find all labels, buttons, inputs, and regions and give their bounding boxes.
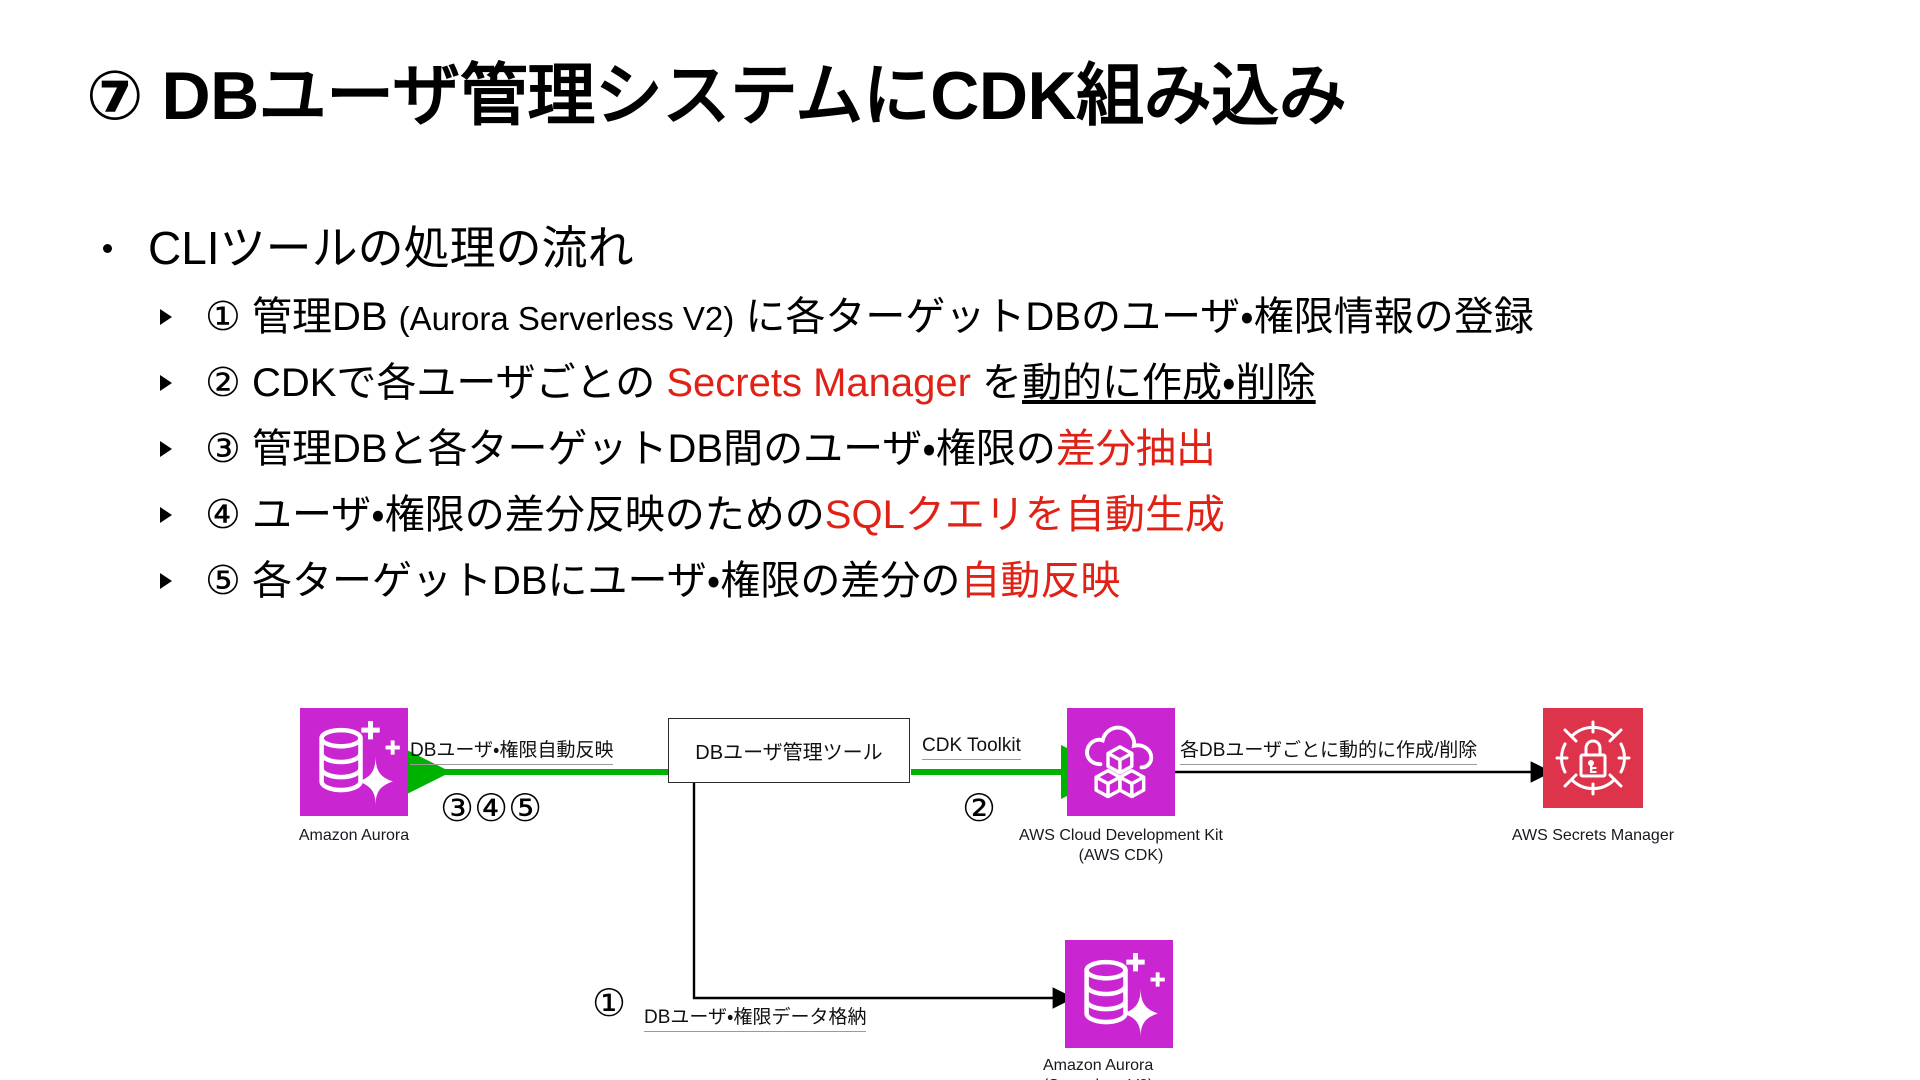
- bullet-item-5: ⑤ 各ターゲットDBにユーザ・権限の差分の自動反映: [0, 561, 1920, 601]
- bullet-item-5-highlight: 自動反映: [960, 559, 1120, 603]
- bullet-item-3-highlight: 差分抽出: [1056, 427, 1216, 471]
- bullet-item-3-pre: 管理DBと各ターゲットDB間のユーザ・権限の: [241, 427, 1056, 471]
- aurora-serverless-caption-line1: Amazon Aurora: [1043, 1057, 1153, 1074]
- edge-label-auto-apply: DBユーザ・権限自動反映: [410, 735, 613, 765]
- aws-cdk-caption-line1: AWS Cloud Development Kit: [1019, 827, 1223, 844]
- bullet-item-2-highlight: Secrets Manager: [666, 361, 971, 405]
- edge-label-create-delete: 各DBユーザごとに動的に作成/削除: [1180, 735, 1477, 765]
- amazon-aurora-serverless-icon: [1065, 940, 1173, 1048]
- bullet-body: CLIツールの処理の流れ ① 管理DB (Aurora Serverless V…: [0, 225, 1920, 627]
- triangle-bullet-icon: [160, 441, 172, 457]
- bullet-item-1-paren: (Aurora Serverless V2): [399, 300, 735, 337]
- step-marker-2: ②: [205, 361, 241, 405]
- step-marker-circle-2: ②: [962, 790, 996, 828]
- db-user-management-tool-box[interactable]: DBユーザ管理ツール: [668, 718, 910, 783]
- amazon-aurora-serverless-caption: Amazon Aurora (Serverless V2): [1043, 1056, 1195, 1080]
- triangle-bullet-icon: [160, 573, 172, 589]
- amazon-aurora-icon: [300, 708, 408, 816]
- step-markers-345: ③④⑤: [440, 790, 542, 828]
- triangle-bullet-icon: [160, 507, 172, 523]
- bullet-item-3: ③ 管理DBと各ターゲットDB間のユーザ・権限の差分抽出: [0, 429, 1920, 469]
- aws-cdk-caption-line2: (AWS CDK): [1079, 847, 1164, 864]
- bullet-item-2: ② CDKで各ユーザごとの Secrets Manager を動的に作成・削除: [0, 363, 1920, 403]
- step-marker-5: ⑤: [205, 559, 241, 603]
- bullet-item-1-pre: 管理DB: [241, 295, 399, 339]
- triangle-bullet-icon: [160, 309, 172, 325]
- triangle-bullet-icon: [160, 375, 172, 391]
- bullet-level1: CLIツールの処理の流れ: [0, 225, 1920, 271]
- edge-label-store-data: DBユーザ・権限データ格納: [644, 1002, 866, 1032]
- bullet-level1-label: CLIツールの処理の流れ: [148, 222, 634, 274]
- bullet-item-1-post: に各ターゲットDBのユーザ・権限情報の登録: [734, 295, 1533, 339]
- bullet-item-2-underline: 動的に作成・削除: [1022, 361, 1316, 405]
- bullet-item-2-post: を: [971, 361, 1022, 405]
- db-user-management-tool-label: DBユーザ管理ツール: [695, 736, 882, 765]
- aws-cdk-icon: [1067, 708, 1175, 816]
- step-marker-3: ③: [205, 427, 241, 471]
- bullet-item-4-pre: ユーザ・権限の差分反映のための: [241, 493, 825, 537]
- slide-root: ⑦ DBユーザ管理システムにCDK組み込み CLIツールの処理の流れ ① 管理D…: [0, 0, 1920, 1080]
- aws-secrets-manager-icon: [1543, 708, 1643, 808]
- bullet-item-1: ① 管理DB (Aurora Serverless V2) に各ターゲットDBの…: [0, 297, 1920, 337]
- edge-label-cdk-toolkit: CDK Toolkit: [922, 735, 1021, 760]
- bullet-item-4-highlight: SQLクエリを自動生成: [825, 493, 1225, 537]
- bullet-item-5-pre: 各ターゲットDBにユーザ・権限の差分の: [241, 559, 960, 603]
- page-title: ⑦ DBユーザ管理システムにCDK組み込み: [86, 58, 1846, 134]
- bullet-item-2-pre: CDKで各ユーザごとの: [241, 361, 666, 405]
- aws-cdk-caption: AWS Cloud Development Kit (AWS CDK): [1001, 826, 1241, 866]
- step-marker-circle-1: ①: [592, 985, 626, 1023]
- aws-secrets-manager-caption: AWS Secrets Manager: [1492, 826, 1694, 846]
- step-marker-4: ④: [205, 493, 241, 537]
- step-marker-1: ①: [205, 295, 241, 339]
- amazon-aurora-left-caption: Amazon Aurora: [272, 826, 436, 846]
- bullet-dot-icon: [103, 244, 112, 253]
- bullet-item-4: ④ ユーザ・権限の差分反映のためのSQLクエリを自動生成: [0, 495, 1920, 535]
